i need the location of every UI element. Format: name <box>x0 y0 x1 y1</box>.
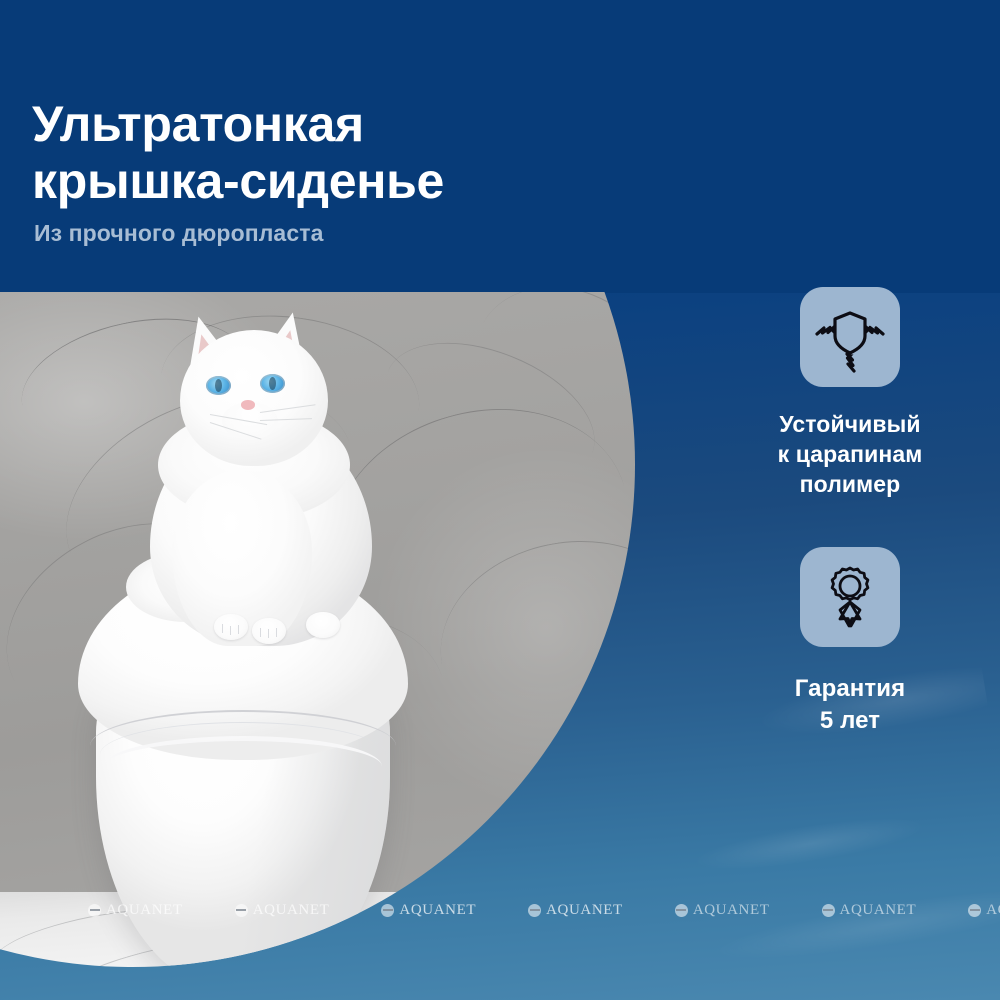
page-subtitle: Из прочного дюропласта <box>34 219 323 248</box>
feature-label: Гарантия 5 лет <box>700 673 1000 737</box>
cat-pupil-right <box>269 377 276 390</box>
feature-warranty: Гарантия 5 лет <box>700 547 1000 737</box>
feature-label: Устойчивый к царапинам полимер <box>700 409 1000 499</box>
cat-pupil-left <box>215 379 222 392</box>
feature-icon-tile <box>800 547 900 647</box>
photo-circular-mask <box>0 292 635 967</box>
cat-paw <box>306 612 340 638</box>
cat <box>110 302 420 647</box>
cat-paw <box>214 614 248 640</box>
ultra-thin-seat-edge <box>104 736 382 797</box>
feature-scratch-resistant: Устойчивый к царапинам полимер <box>700 287 1000 499</box>
scratch-resistant-shield-icon <box>813 300 887 374</box>
page-title: Ультратонкая крышка-сиденье <box>32 96 652 210</box>
product-photo <box>0 292 700 1000</box>
cat-paw <box>252 618 286 644</box>
product-banner: Ультратонкая крышка-сиденье Из прочного … <box>0 0 1000 1000</box>
header-band: Ультратонкая крышка-сиденье Из прочного … <box>0 0 1000 293</box>
award-ribbon-icon <box>814 561 886 633</box>
cat-nose <box>241 400 255 410</box>
cat-head <box>180 330 328 466</box>
feature-icon-tile <box>800 287 900 387</box>
